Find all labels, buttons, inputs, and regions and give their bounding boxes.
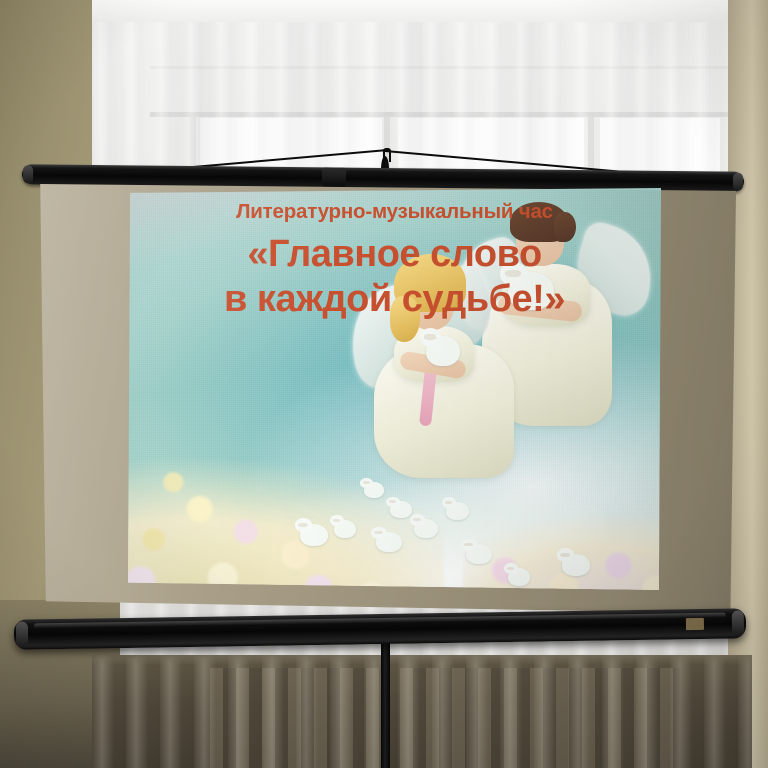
bar-end-cap <box>16 622 28 648</box>
kitten <box>446 502 469 520</box>
flower-band-right <box>463 484 661 594</box>
curtain-hem <box>92 655 752 665</box>
kitten <box>562 554 590 576</box>
kitten <box>390 501 412 518</box>
tripod-pole <box>381 640 390 768</box>
projected-slide: Литературно-музыкальный час «Главное сло… <box>128 188 661 594</box>
bar-end-cap <box>733 173 743 191</box>
photo-scene: Литературно-музыкальный час «Главное сло… <box>0 0 768 768</box>
curtain-lower <box>92 655 752 768</box>
kitten <box>364 482 384 498</box>
bar-bracket <box>322 167 346 187</box>
bar-end-cap <box>732 610 744 636</box>
slide-text-block: Литературно-музыкальный час «Главное сло… <box>128 202 661 320</box>
bar-end-cap <box>23 165 33 183</box>
kitten <box>414 519 438 538</box>
slide-title-line-2: в каждой судьбе!» <box>128 280 661 320</box>
held-kitten <box>426 336 460 366</box>
kitten <box>334 520 356 538</box>
slide-subtitle: Литературно-музыкальный час <box>128 202 661 223</box>
kitten <box>466 544 492 564</box>
curtain-rail <box>92 0 752 22</box>
brand-label <box>686 618 704 630</box>
slide-title-line-1: «Главное слово <box>128 235 661 275</box>
kitten <box>508 568 530 586</box>
kitten <box>300 524 328 546</box>
kitten <box>376 532 402 552</box>
wall-right <box>728 0 768 768</box>
